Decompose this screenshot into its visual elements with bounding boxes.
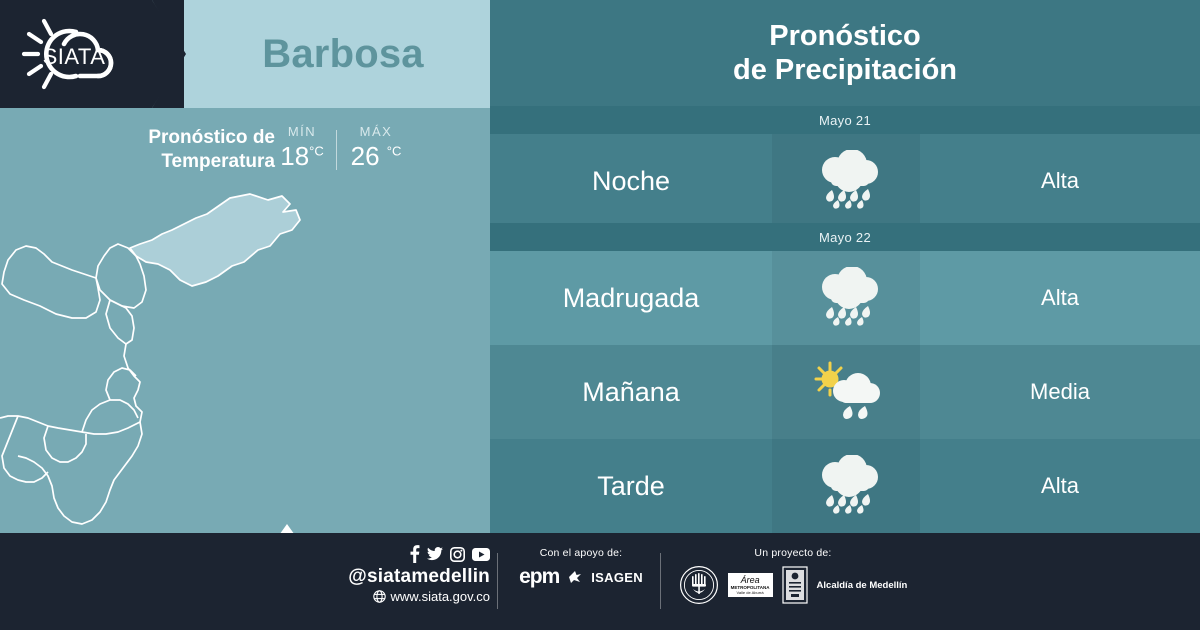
rain-cloud-icon: [772, 439, 920, 533]
social-block: @siatamedellin www.siata.gov.co: [330, 545, 490, 604]
rain-cloud-icon: [772, 251, 920, 345]
rain-cloud-icon: [772, 134, 920, 228]
precipitation-title: Pronóstico de Precipitación: [490, 0, 1200, 106]
area-logo-line3: Valle de Aburrá: [731, 590, 770, 595]
temperature-forecast: Pronóstico de Temperatura MÍN 18°C MÁX 2…: [0, 108, 490, 194]
temperature-title-line1: Pronóstico de: [95, 126, 275, 150]
footer-divider-1: [497, 553, 498, 609]
precipitation-panel: Pronóstico de Precipitación Mayo 21 Noch…: [490, 0, 1200, 533]
left-header: SIATA Barbosa: [0, 0, 490, 108]
forecast-period-label: Tarde: [490, 439, 772, 533]
forecast-level-label: Media: [920, 345, 1200, 439]
temperature-max-value: 26 °C: [342, 141, 410, 172]
sun-cloud-icon: SIATA: [14, 12, 138, 96]
facebook-icon[interactable]: [409, 545, 420, 563]
forecast-row-noche: Noche Alta: [490, 134, 1200, 228]
project-logos: Área METROPOLITANA Valle de Aburrá Alcal…: [668, 565, 918, 605]
temperature-title: Pronóstico de Temperatura: [95, 126, 275, 174]
forecast-level-label: Alta: [920, 134, 1200, 228]
forecast-row-manana: Mañana: [490, 345, 1200, 439]
banner-arrow-tip: [152, 0, 186, 108]
project-caption: Un proyecto de:: [668, 547, 918, 559]
instagram-icon[interactable]: [450, 547, 465, 562]
date-label-mayo-21: Mayo 21: [490, 106, 1200, 134]
youtube-icon[interactable]: [472, 548, 490, 561]
project-block: Un proyecto de: Área METROPOLITANA: [668, 547, 918, 605]
globe-icon: [373, 590, 386, 603]
temperature-max: MÁX 26 °C: [342, 124, 410, 172]
website-url: www.siata.gov.co: [391, 589, 490, 604]
temperature-min-label: MÍN: [272, 124, 332, 139]
forecast-period-label: Madrugada: [490, 251, 772, 345]
left-panel: SIATA Barbosa Pronóstico de Temperatura …: [0, 0, 490, 533]
alcaldia-medellin-crest-icon: [782, 566, 808, 604]
temperature-title-line2: Temperatura: [95, 150, 275, 174]
forecast-period-label: Noche: [490, 134, 772, 228]
social-handle[interactable]: @siatamedellin: [330, 566, 490, 588]
epm-logo: epm: [519, 565, 559, 589]
support-block: Con el apoyo de: epm ISAGEN: [505, 547, 657, 589]
precipitation-title-line1: Pronóstico: [769, 19, 920, 53]
forecast-period-label: Mañana: [490, 345, 772, 439]
forecast-row-tarde: Tarde Alta: [490, 439, 1200, 533]
map-svg: [0, 190, 490, 533]
area-metropolitana-logo: Área METROPOLITANA Valle de Aburrá: [728, 573, 773, 597]
forecast-level-label: Alta: [920, 251, 1200, 345]
isagen-mark-icon: [568, 570, 582, 584]
universidad-de-medellin-seal-icon: [679, 565, 719, 605]
isagen-logo: ISAGEN: [591, 570, 643, 585]
social-icons: [330, 545, 490, 563]
temperature-divider: [336, 130, 337, 170]
aburra-valley-map: N: [0, 190, 490, 533]
area-logo-line1: Área: [731, 575, 770, 585]
footer-divider-2: [660, 553, 661, 609]
siata-logo-banner: SIATA: [0, 0, 152, 108]
footer: @siatamedellin www.siata.gov.co Con el a…: [0, 533, 1200, 630]
map-region-barbosa: [130, 194, 300, 286]
website-row[interactable]: www.siata.gov.co: [330, 589, 490, 604]
sun-cloud-rain-icon: [772, 345, 920, 439]
forecast-row-madrugada: Madrugada Alta: [490, 251, 1200, 345]
page-title: Barbosa: [196, 0, 490, 108]
svg-text:SIATA: SIATA: [43, 44, 106, 69]
temperature-max-label: MÁX: [342, 124, 410, 139]
forecast-level-label: Alta: [920, 439, 1200, 533]
date-label-mayo-22: Mayo 22: [490, 223, 1200, 251]
temperature-min-value: 18°C: [272, 141, 332, 172]
alcaldia-label: Alcaldía de Medellín: [817, 580, 908, 591]
temperature-min: MÍN 18°C: [272, 124, 332, 172]
support-caption: Con el apoyo de:: [505, 547, 657, 559]
precipitation-title-line2: de Precipitación: [733, 53, 957, 87]
twitter-icon[interactable]: [427, 547, 443, 561]
support-logos: epm ISAGEN: [505, 565, 657, 589]
